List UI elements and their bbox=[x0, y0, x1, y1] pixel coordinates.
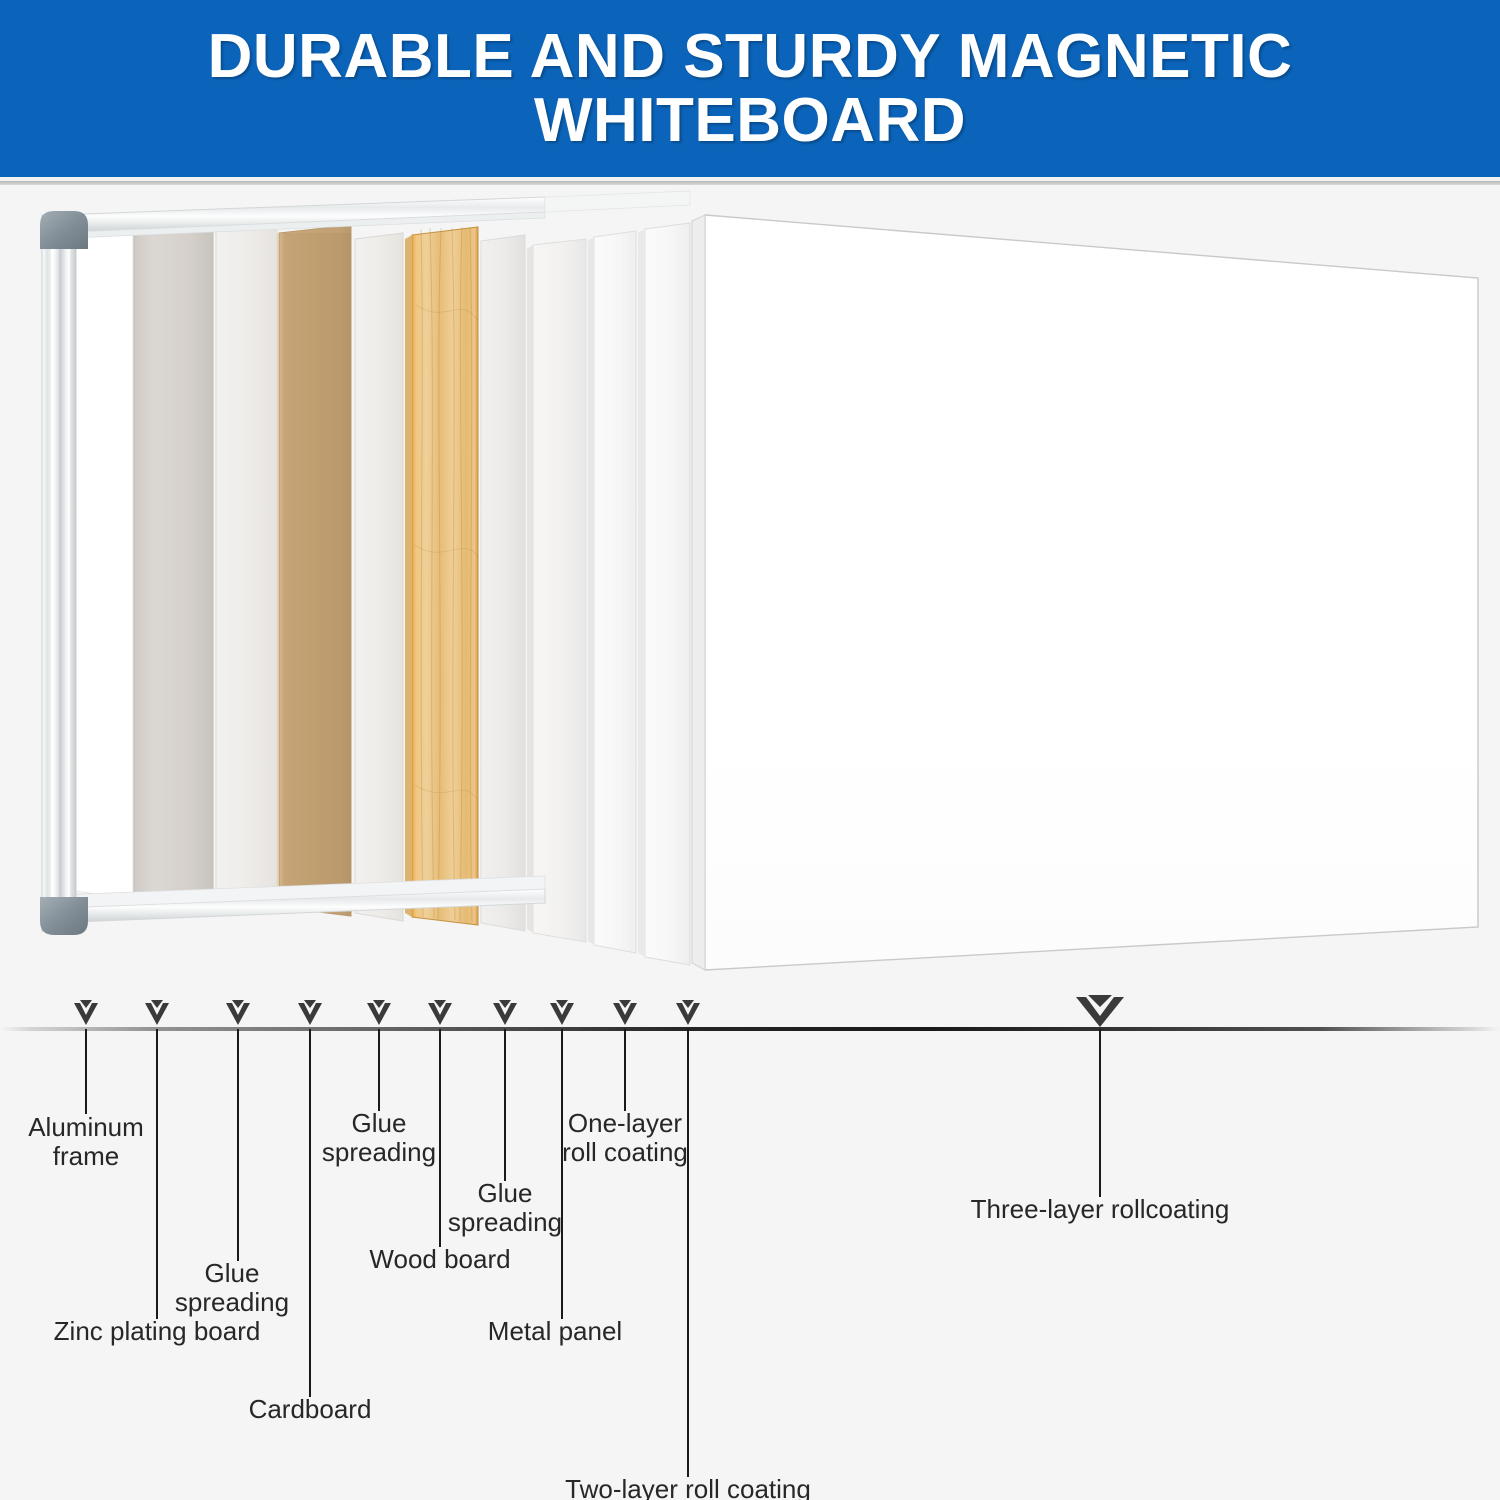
leader-line-cardboard bbox=[309, 1029, 311, 1397]
layer-two-layer-roll-coating bbox=[638, 223, 690, 965]
callout-label-wood-board: Wood board bbox=[369, 1245, 510, 1274]
chevron-marker-glue-spreading-1 bbox=[226, 1000, 250, 1025]
chevron-marker-wood-board bbox=[428, 1000, 452, 1025]
chevron-marker-aluminum-frame bbox=[74, 1000, 98, 1025]
chevron-marker-zinc-plating-board bbox=[145, 1000, 169, 1025]
callout-markers bbox=[0, 995, 1500, 1500]
layer-glue-spreading-1 bbox=[216, 223, 277, 911]
layer-cardboard bbox=[273, 225, 351, 916]
layer-glue-spreading-3 bbox=[481, 235, 525, 931]
callout-label-glue-spreading-3: Glue spreading bbox=[448, 1179, 562, 1237]
callout-label-cardboard: Cardboard bbox=[249, 1395, 372, 1424]
chevron-marker-cardboard bbox=[298, 1000, 322, 1025]
layer-one-layer-roll-coating bbox=[588, 231, 636, 953]
chevron-marker-three-layer-rollcoating bbox=[1076, 995, 1124, 1027]
exploded-view-stage bbox=[0, 185, 1500, 995]
layer-metal-panel bbox=[527, 239, 586, 942]
layer-stack-illustration bbox=[0, 185, 1500, 995]
layer-wood-board bbox=[405, 227, 478, 925]
leader-line-one-layer-roll-coating bbox=[624, 1029, 626, 1111]
chevron-marker-one-layer-roll-coating bbox=[613, 1000, 637, 1025]
callout-label-metal-panel: Metal panel bbox=[488, 1317, 622, 1346]
layer-zinc-plating-board bbox=[134, 219, 213, 907]
chevron-marker-glue-spreading-3 bbox=[493, 1000, 517, 1025]
leader-line-two-layer-roll-coating bbox=[687, 1029, 689, 1477]
callout-axis-line bbox=[0, 1027, 1500, 1031]
callout-label-glue-spreading-2: Glue spreading bbox=[322, 1109, 436, 1167]
leader-line-metal-panel bbox=[561, 1029, 563, 1319]
callout-label-one-layer-roll-coating: One-layer roll coating bbox=[562, 1109, 688, 1167]
leader-line-glue-spreading-3 bbox=[504, 1029, 506, 1181]
chevron-marker-metal-panel bbox=[550, 1000, 574, 1025]
leader-line-aluminum-frame bbox=[85, 1029, 87, 1114]
callout-label-zinc-plating-board: Zinc plating board bbox=[54, 1317, 261, 1346]
layer-glue-spreading-2 bbox=[355, 233, 403, 921]
layer-three-layer-rollcoating bbox=[692, 215, 1478, 970]
leader-line-glue-spreading-2 bbox=[378, 1029, 380, 1111]
leader-line-zinc-plating-board bbox=[156, 1029, 158, 1319]
chevron-marker-two-layer-roll-coating bbox=[676, 1000, 700, 1025]
chevron-marker-glue-spreading-2 bbox=[367, 1000, 391, 1025]
page-title: DURABLE AND STURDY MAGNETIC WHITEBOARD bbox=[90, 25, 1410, 151]
callout-label-aluminum-frame: Aluminum frame bbox=[28, 1113, 144, 1171]
callout-axis-group: Aluminum frame Glue spreading One-layer … bbox=[0, 995, 1500, 1500]
leader-line-three-layer-rollcoating bbox=[1099, 1029, 1101, 1197]
callout-label-three-layer-rollcoating: Three-layer rollcoating bbox=[971, 1195, 1230, 1224]
leader-line-glue-spreading-1 bbox=[237, 1029, 239, 1261]
callout-label-glue-spreading-1: Glue spreading bbox=[175, 1259, 289, 1317]
leader-line-wood-board bbox=[439, 1029, 441, 1247]
diagram-canvas: Aluminum frame Glue spreading One-layer … bbox=[0, 185, 1500, 1500]
callout-label-two-layer-roll-coating: Two-layer roll coating bbox=[565, 1475, 811, 1500]
header-banner: DURABLE AND STURDY MAGNETIC WHITEBOARD bbox=[0, 0, 1500, 177]
